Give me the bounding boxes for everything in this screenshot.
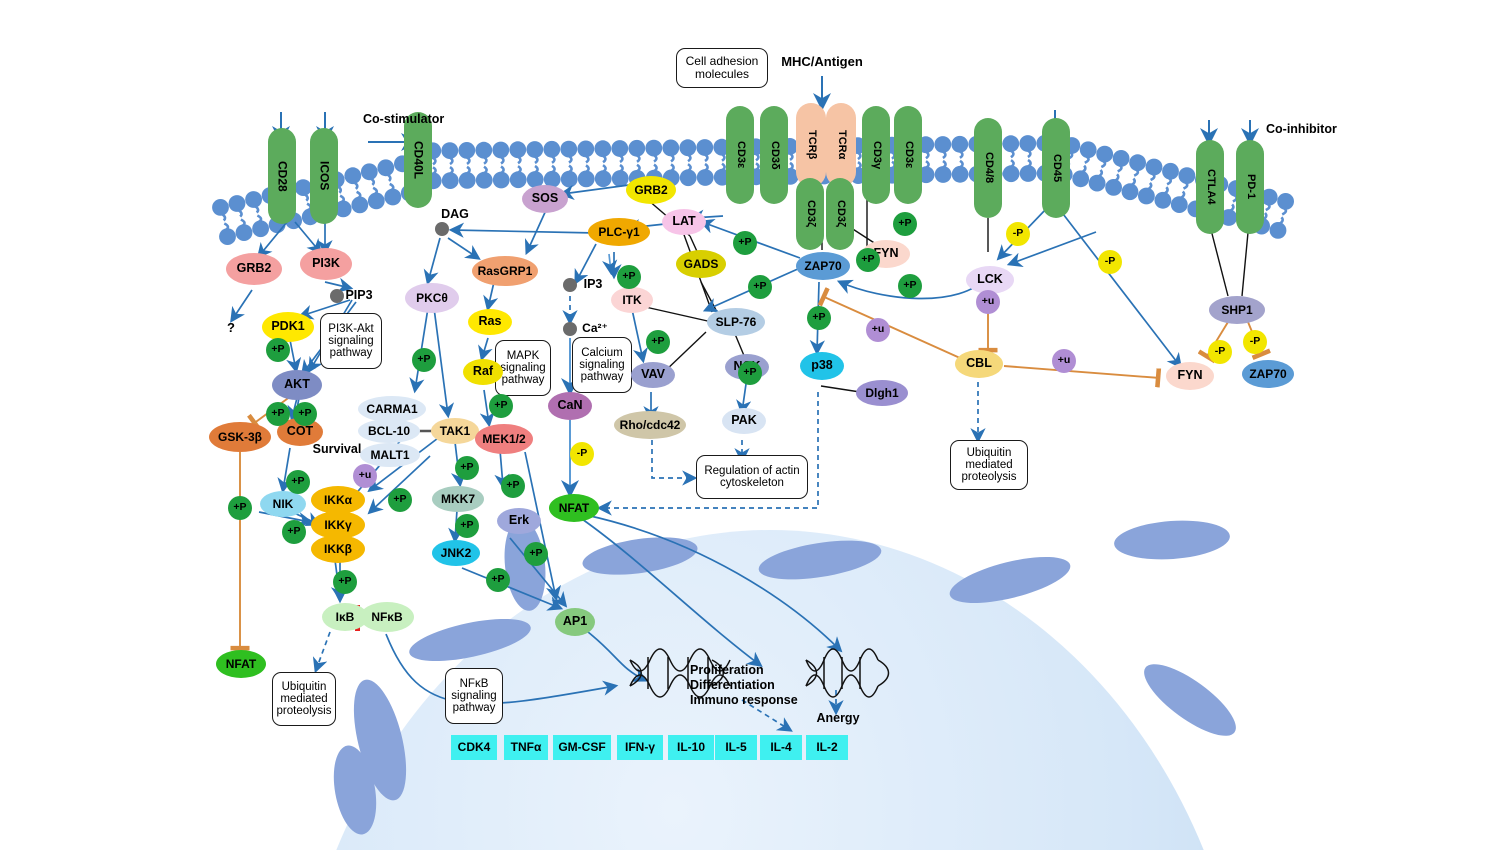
label-differentiation: Differentiation	[690, 678, 810, 694]
badge-ubiquitin-lck: +u	[976, 290, 1000, 314]
badge-phospho-lat: +P	[733, 231, 757, 255]
protein-ikkb[interactable]: IKKβ	[311, 535, 365, 563]
protein-malt1[interactable]: MALT1	[360, 443, 420, 467]
pip3-dot	[330, 289, 344, 303]
cytokine-cdk4[interactable]: CDK4	[451, 735, 497, 760]
protein-pdk1[interactable]: PDK1	[262, 312, 314, 342]
label-calcium-ion: Ca²⁺	[578, 320, 612, 336]
label-proliferation: Proliferation	[690, 663, 800, 679]
receptor-cd28[interactable]: CD28	[268, 128, 296, 224]
receptor-tcrb[interactable]: TCRβ	[796, 103, 826, 187]
badge-phospho-ikk2: +P	[388, 488, 412, 512]
protein-fyn-right[interactable]: FYN	[1166, 362, 1214, 390]
protein-jnk2[interactable]: JNK2	[432, 540, 480, 566]
receptor-cd3z-1[interactable]: CD3ζ	[796, 178, 824, 250]
badge-phospho-akt-2: +P	[293, 402, 317, 426]
badge-phospho-tak1: +P	[455, 456, 479, 480]
protein-tak1[interactable]: TAK1	[431, 418, 479, 444]
protein-raf[interactable]: Raf	[463, 359, 503, 385]
protein-gads[interactable]: GADS	[676, 250, 726, 278]
protein-vav[interactable]: VAV	[631, 362, 675, 388]
calcium-dot	[563, 322, 577, 336]
receptor-pd-1[interactable]: PD-1	[1236, 140, 1264, 234]
box-nfkb-pathway: NFκB signaling pathway	[445, 668, 503, 724]
box-mapk-pathway: MAPK signaling pathway	[495, 340, 551, 396]
box-actin-cytoskeleton: Regulation of actin cytoskeleton	[696, 455, 808, 499]
receptor-cd3z-2[interactable]: CD3ζ	[826, 178, 854, 250]
badge-phospho-akt-1: +P	[266, 402, 290, 426]
receptor-cd4-8[interactable]: CD4/8	[974, 118, 1002, 218]
protein-dlgh1[interactable]: Dlgh1	[856, 380, 908, 406]
receptor-cd45[interactable]: CD45	[1042, 118, 1070, 218]
protein-shp1[interactable]: SHP1	[1209, 296, 1265, 324]
protein-akt[interactable]: AKT	[272, 370, 322, 400]
cytokine-ifn-g[interactable]: IFN-γ	[617, 735, 663, 760]
receptor-cd3e-1[interactable]: CD3ε	[726, 106, 754, 204]
protein-pkctheta[interactable]: PKCθ	[405, 283, 459, 313]
badge-phospho-p38: +P	[807, 306, 831, 330]
protein-nfat-left[interactable]: NFAT	[216, 650, 266, 678]
protein-zap70[interactable]: ZAP70	[796, 252, 850, 280]
badge-dephospho-cd45-lck: -P	[1006, 222, 1030, 246]
protein-can[interactable]: CaN	[548, 392, 592, 420]
box-cell-adhesion-molecules: Cell adhesion molecules	[676, 48, 768, 88]
box-ubiquitin-proteolysis-right: Ubiquitin mediated proteolysis	[950, 440, 1028, 490]
cytokine-il-5[interactable]: IL-5	[715, 735, 757, 760]
box-ubiquitin-proteolysis-left: Ubiquitin mediated proteolysis	[272, 672, 336, 726]
label-immuno-response: Immuno response	[690, 693, 820, 709]
receptor-cd3g[interactable]: CD3γ	[862, 106, 890, 204]
protein-cbl[interactable]: CBL	[955, 350, 1003, 378]
cytokine-il-2[interactable]: IL-2	[806, 735, 848, 760]
badge-ubiquitin-zap70: +u	[866, 318, 890, 342]
protein-ap1[interactable]: AP1	[555, 608, 595, 636]
protein-p38[interactable]: p38	[800, 352, 844, 380]
badge-dephospho-shp1-fyn: -P	[1208, 340, 1232, 364]
badge-phospho-pdk1: +P	[266, 338, 290, 362]
badge-phospho-gsk3b: +P	[228, 496, 252, 520]
badge-phospho-mkk7: +P	[455, 514, 479, 538]
protein-sos[interactable]: SOS	[522, 185, 568, 213]
cytokine-tnfa[interactable]: TNFα	[504, 735, 548, 760]
label-question-mark: ?	[224, 320, 238, 336]
protein-bcl10[interactable]: BCL-10	[358, 419, 420, 443]
box-pi3k-akt-pathway: PI3K-Akt signaling pathway	[320, 313, 382, 369]
pathway-canvas: CD28 ICOS CD40L CD3ε CD3δ TCRβ TCRα CD3γ…	[0, 0, 1512, 850]
protein-nik[interactable]: NIK	[260, 491, 306, 517]
protein-erk[interactable]: Erk	[497, 508, 541, 534]
badge-phospho-nik: +P	[282, 520, 306, 544]
ip3-dot	[563, 278, 577, 292]
badge-phospho-ikk: +P	[333, 570, 357, 594]
protein-pak[interactable]: PAK	[722, 408, 766, 434]
receptor-cd3d[interactable]: CD3δ	[760, 106, 788, 204]
badge-phospho-itk: +P	[646, 330, 670, 354]
cytokine-il-4[interactable]: IL-4	[760, 735, 802, 760]
protein-ikka[interactable]: IKKα	[311, 486, 365, 514]
receptor-ctla4[interactable]: CTLA4	[1196, 140, 1224, 234]
badge-ubiquitin-fyn: +u	[1052, 349, 1076, 373]
protein-itk[interactable]: ITK	[611, 287, 653, 313]
receptor-tcra[interactable]: TCRα	[826, 103, 856, 187]
protein-grb2-top[interactable]: GRB2	[626, 176, 676, 204]
badge-phospho-zap70-fyn: +P	[856, 248, 880, 272]
dag-dot	[435, 222, 449, 236]
protein-pi3k[interactable]: PI3K	[300, 248, 352, 280]
protein-rasgrp1[interactable]: RasGRP1	[472, 256, 538, 286]
box-calcium-pathway: Calcium signaling pathway	[572, 337, 632, 393]
protein-rho-cdc42[interactable]: Rho/cdc42	[614, 411, 686, 439]
badge-phospho-mek: +P	[501, 474, 525, 498]
badge-phospho-slp76: +P	[748, 275, 772, 299]
protein-zap70-right[interactable]: ZAP70	[1242, 360, 1294, 388]
label-mhc-antigen: MHC/Antigen	[772, 54, 872, 70]
protein-grb2-left[interactable]: GRB2	[226, 253, 282, 285]
protein-slp76[interactable]: SLP-76	[707, 308, 765, 336]
receptor-cd3e-2[interactable]: CD3ε	[894, 106, 922, 204]
label-co-inhibitor: Co-inhibitor	[1266, 122, 1366, 138]
label-co-stimulator: Co-stimulator	[363, 112, 473, 128]
label-anergy: Anergy	[812, 711, 864, 727]
protein-gsk3b[interactable]: GSK-3β	[209, 422, 271, 452]
badge-phospho-cot: +P	[286, 470, 310, 494]
protein-mkk7[interactable]: MKK7	[432, 486, 484, 512]
label-survival: Survival	[308, 442, 366, 458]
receptor-icos[interactable]: ICOS	[310, 128, 338, 224]
badge-phospho-cd3z: +P	[893, 212, 917, 236]
badge-dephospho-can: -P	[570, 442, 594, 466]
badge-phospho-raf: +P	[489, 394, 513, 418]
cytokine-il-10[interactable]: IL-10	[668, 735, 714, 760]
protein-nfat-center[interactable]: NFAT	[549, 494, 599, 522]
protein-nfkb[interactable]: NFκB	[360, 602, 414, 632]
protein-plcg1[interactable]: PLC-γ1	[588, 218, 650, 246]
badge-phospho-pkctheta: +P	[412, 348, 436, 372]
badge-phospho-erk: +P	[524, 542, 548, 566]
badge-phospho-nck: +P	[738, 361, 762, 385]
label-pip3: PIP3	[341, 288, 377, 304]
badge-phospho-jnk2: +P	[486, 568, 510, 592]
protein-mek12[interactable]: MEK1/2	[475, 424, 533, 454]
cytokine-gm-csf[interactable]: GM-CSF	[553, 735, 611, 760]
badge-phospho-plcg1: +P	[617, 265, 641, 289]
badge-dephospho-shp1-zap70: -P	[1243, 330, 1267, 354]
protein-ras[interactable]: Ras	[468, 309, 512, 335]
protein-lat[interactable]: LAT	[662, 209, 706, 235]
label-ip3: IP3	[580, 277, 606, 293]
badge-ubiquitin-malt1: +u	[353, 464, 377, 488]
label-dag: DAG	[438, 207, 472, 223]
badge-dephospho-cd45-fyn: -P	[1098, 250, 1122, 274]
badge-phospho-lck: +P	[898, 274, 922, 298]
